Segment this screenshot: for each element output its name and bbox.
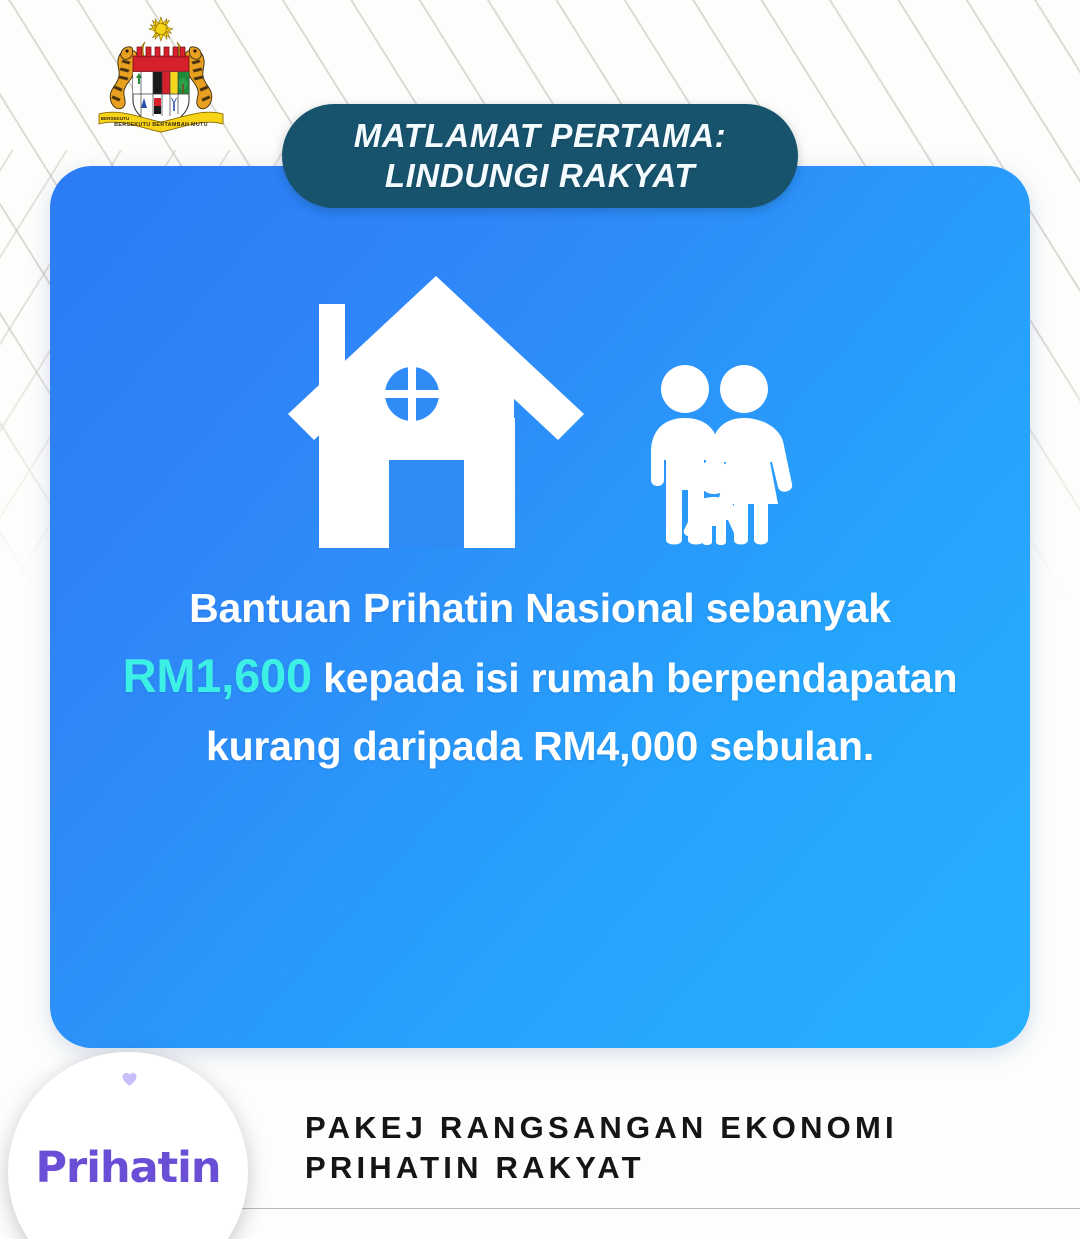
house-icon bbox=[286, 268, 586, 558]
body-text-part2: kepada isi rumah berpendapatan kurang da… bbox=[206, 655, 957, 769]
footer-line-1: PAKEJ RANGSANGAN EKONOMI bbox=[305, 1108, 898, 1148]
heart-icon bbox=[121, 1071, 138, 1088]
svg-text:BERSEKUTU: BERSEKUTU bbox=[101, 116, 130, 121]
svg-text:BERSEKUTU BERTAMBAH MUTU: BERSEKUTU BERTAMBAH MUTU bbox=[114, 122, 208, 128]
footer-line-2: PRIHATIN RAKYAT bbox=[305, 1148, 898, 1188]
infographic-poster: BERSEKUTU BERTAMBAH MUTU BERSEKUTU bbox=[0, 0, 1080, 1239]
body-text-part1: Bantuan Prihatin Nasional sebanyak bbox=[189, 585, 891, 631]
footer-title: PAKEJ RANGSANGAN EKONOMI PRIHATIN RAKYAT bbox=[305, 1108, 898, 1188]
footer-divider bbox=[220, 1208, 1080, 1209]
prihatin-logo-badge: Prihatin bbox=[8, 1052, 248, 1239]
header-banner-pill: MATLAMAT PERTAMA: LINDUNGI RAKYAT bbox=[282, 104, 798, 208]
amount-highlight: RM1,600 bbox=[123, 649, 312, 702]
banner-line-2: LINDUNGI RAKYAT bbox=[385, 156, 695, 196]
prihatin-wordmark: Prihatin bbox=[36, 1143, 221, 1193]
card-body-text: Bantuan Prihatin Nasional sebanyak RM1,6… bbox=[110, 574, 970, 780]
banner-line-1: MATLAMAT PERTAMA: bbox=[354, 116, 727, 156]
family-icon bbox=[634, 364, 794, 546]
jata-negara-coat-of-arms-icon: BERSEKUTU BERTAMBAH MUTU BERSEKUTU bbox=[85, 14, 237, 142]
main-content-card: Bantuan Prihatin Nasional sebanyak RM1,6… bbox=[50, 166, 1030, 1048]
icon-row bbox=[50, 248, 1030, 558]
